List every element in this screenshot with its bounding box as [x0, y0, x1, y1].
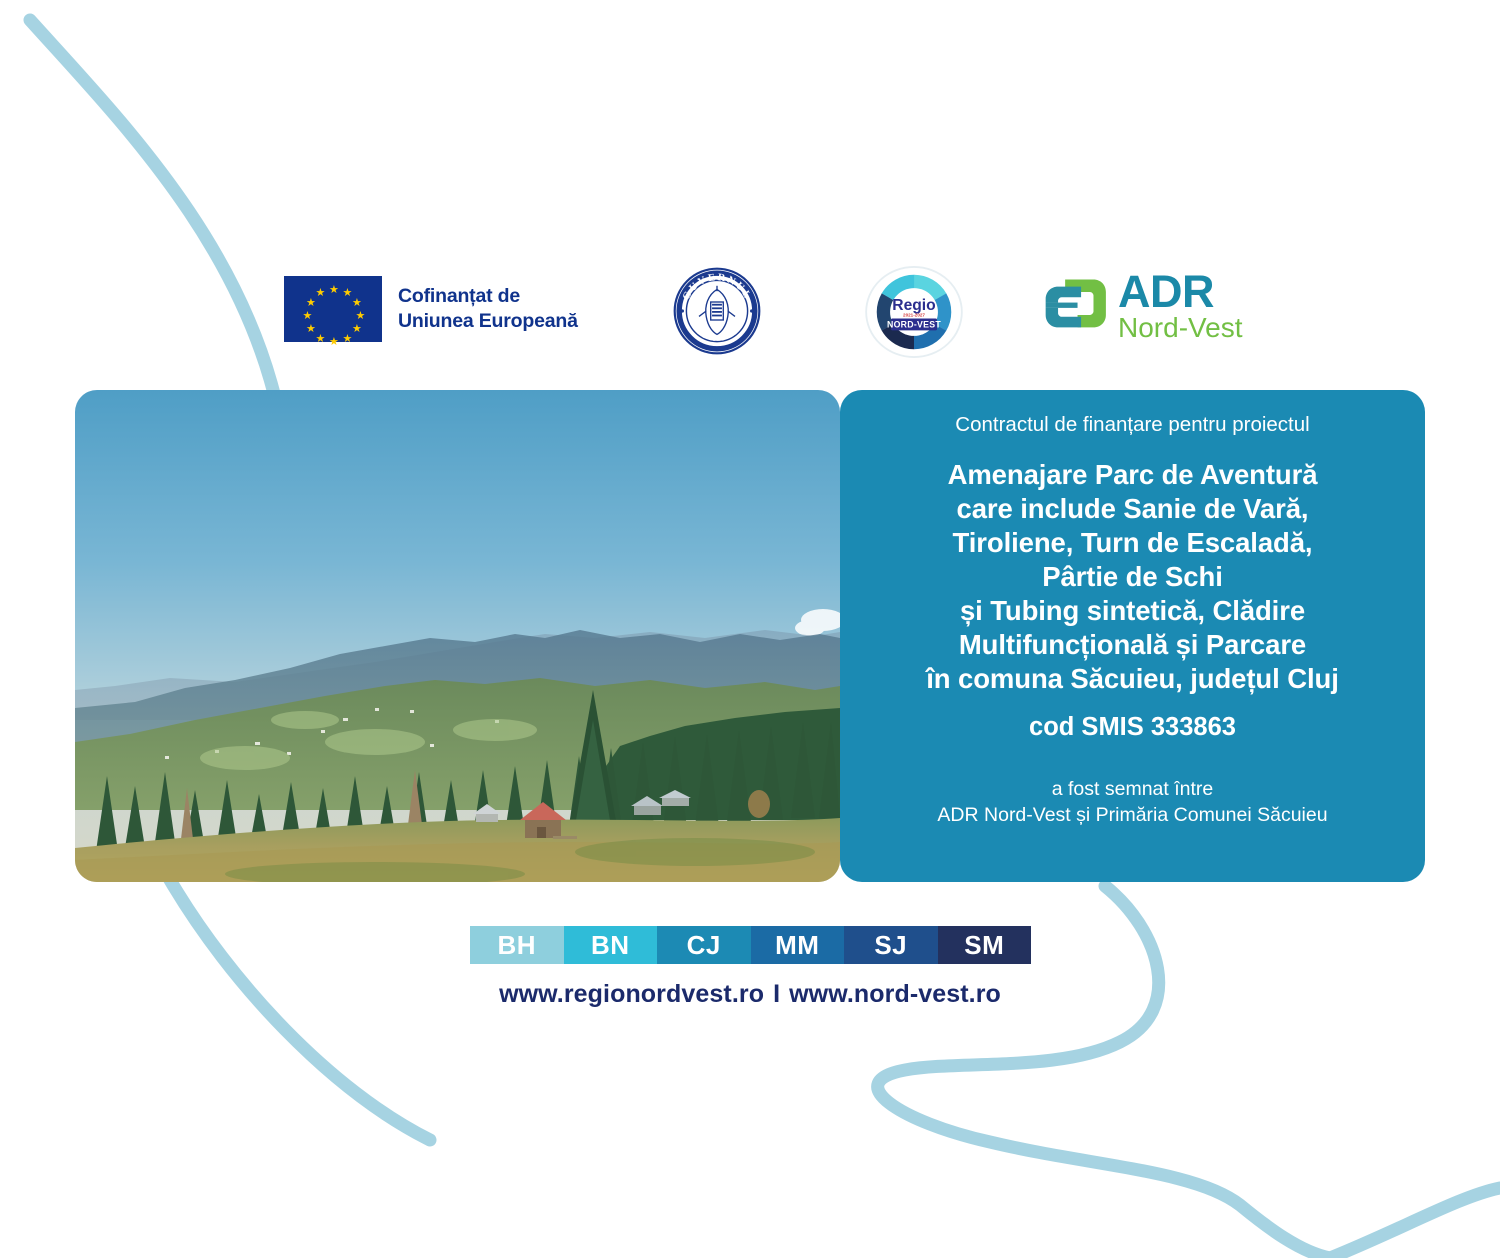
panel-title-line: Tiroliene, Turn de Escaladă,: [926, 526, 1339, 560]
regio-nord-vest-logo-icon: Regio 2021-2027 NORD-VEST: [862, 266, 966, 358]
county-codes-bar: BH BN CJ MM SJ SM: [470, 926, 1031, 964]
eu-logo-text: Cofinanțat de Uniunea Europeană: [398, 284, 578, 334]
guvernul-romaniei-seal-icon: GUVERNUL ROMÂNIEI: [672, 266, 762, 356]
adr-logo-sub: Nord-Vest: [1118, 314, 1243, 342]
county-label: CJ: [687, 930, 721, 961]
url-separator: I: [764, 980, 789, 1008]
panel-footer-line2: ADR Nord-Vest și Primăria Comunei Săcuie…: [937, 802, 1327, 828]
project-info-panel: Contractul de finanțare pentru proiectul…: [840, 390, 1425, 882]
panel-title-line: și Tubing sintetică, Clădire: [926, 594, 1339, 628]
eu-flag-icon: ★ ★ ★ ★ ★ ★ ★ ★ ★ ★ ★ ★: [284, 276, 382, 342]
panel-kicker: Contractul de finanțare pentru proiectul: [955, 412, 1309, 438]
county-label: BH: [497, 930, 536, 961]
county-label: SM: [964, 930, 1004, 961]
panel-title-line: Pârtie de Schi: [926, 560, 1339, 594]
county-cell-bn: BN: [564, 926, 658, 964]
panel-smis-code: cod SMIS 333863: [1029, 712, 1236, 742]
panel-project-title: Amenajare Parc de Aventură care include …: [926, 458, 1339, 696]
panel-title-line: care include Sanie de Vară,: [926, 492, 1339, 526]
adr-logo: ADR Nord-Vest: [1038, 272, 1243, 342]
project-landscape-photo: [75, 390, 840, 882]
svg-text:NORD-VEST: NORD-VEST: [887, 320, 941, 330]
poster-canvas: ★ ★ ★ ★ ★ ★ ★ ★ ★ ★ ★ ★ Cofinanțat de Un…: [0, 0, 1500, 1258]
panel-title-line: Multifuncțională și Parcare: [926, 628, 1339, 662]
panel-footer-line1: a fost semnat între: [937, 776, 1327, 802]
adr-logo-text: ADR Nord-Vest: [1118, 272, 1243, 342]
county-cell-bh: BH: [470, 926, 564, 964]
eu-logo-line1: Cofinanțat de: [398, 284, 578, 309]
svg-text:Regio: Regio: [892, 297, 935, 314]
svg-text:2021-2027: 2021-2027: [903, 313, 925, 318]
county-cell-cj: CJ: [657, 926, 751, 964]
eu-logo-line2: Uniunea Europeană: [398, 309, 578, 334]
url-nordvest[interactable]: www.nord-vest.ro: [789, 980, 1001, 1008]
landscape-illustration: [75, 390, 840, 882]
county-cell-sm: SM: [938, 926, 1032, 964]
panel-title-line: în comuna Săcuieu, județul Cluj: [926, 662, 1339, 696]
footer-urls: www.regionordvest.roIwww.nord-vest.ro: [0, 980, 1500, 1009]
county-label: BN: [591, 930, 630, 961]
adr-mark-icon: [1038, 276, 1110, 338]
county-label: MM: [775, 930, 819, 961]
adr-logo-main: ADR: [1118, 272, 1243, 312]
eu-logo: ★ ★ ★ ★ ★ ★ ★ ★ ★ ★ ★ ★ Cofinanțat de Un…: [284, 276, 578, 342]
panel-title-line: Amenajare Parc de Aventură: [926, 458, 1339, 492]
county-label: SJ: [874, 930, 907, 961]
panel-signatories: a fost semnat între ADR Nord-Vest și Pri…: [937, 776, 1327, 828]
logo-strip: ★ ★ ★ ★ ★ ★ ★ ★ ★ ★ ★ ★ Cofinanțat de Un…: [0, 252, 1500, 352]
url-regionordvest[interactable]: www.regionordvest.ro: [499, 980, 764, 1008]
county-cell-sj: SJ: [844, 926, 938, 964]
county-cell-mm: MM: [751, 926, 845, 964]
